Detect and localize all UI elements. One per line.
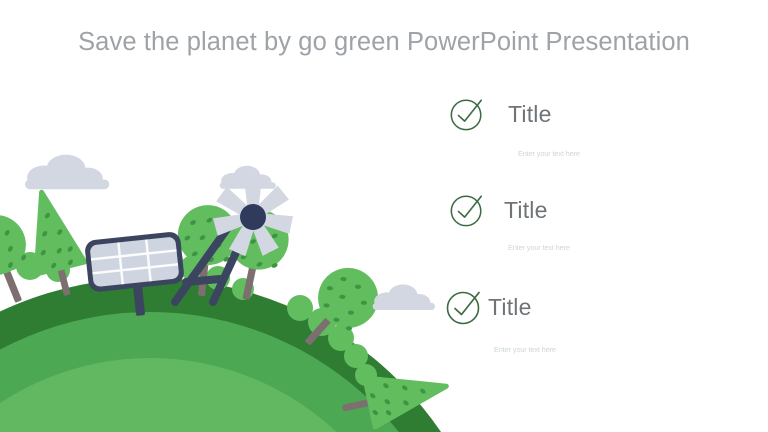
green-planet-illustration [0,70,470,432]
bullet-list: Title Enter your text here Title Enter y… [440,95,740,385]
list-item-title: Title [488,294,532,321]
list-item-title: Title [504,197,548,224]
list-item[interactable]: Title Enter your text here [444,287,744,354]
list-item[interactable]: Title Enter your text here [448,95,748,158]
check-circle-icon [444,287,484,327]
list-item-caption: Enter your text here [518,149,748,158]
presentation-slide: Save the planet by go green PowerPoint P… [0,0,768,432]
bullet-header: Title [448,191,748,229]
list-item-caption: Enter your text here [494,345,744,354]
tree-pine-left [17,186,91,301]
cloud-middle [220,166,276,189]
list-item-caption: Enter your text here [508,243,748,252]
cloud-right [373,284,435,310]
check-circle-icon [448,95,486,133]
bullet-header: Title [448,95,748,133]
page-title: Save the planet by go green PowerPoint P… [0,28,768,57]
cloud-left [25,155,109,190]
list-item[interactable]: Title Enter your text here [448,191,748,252]
list-item-title: Title [508,101,552,128]
bullet-header: Title [444,287,744,327]
check-circle-icon [448,191,486,229]
